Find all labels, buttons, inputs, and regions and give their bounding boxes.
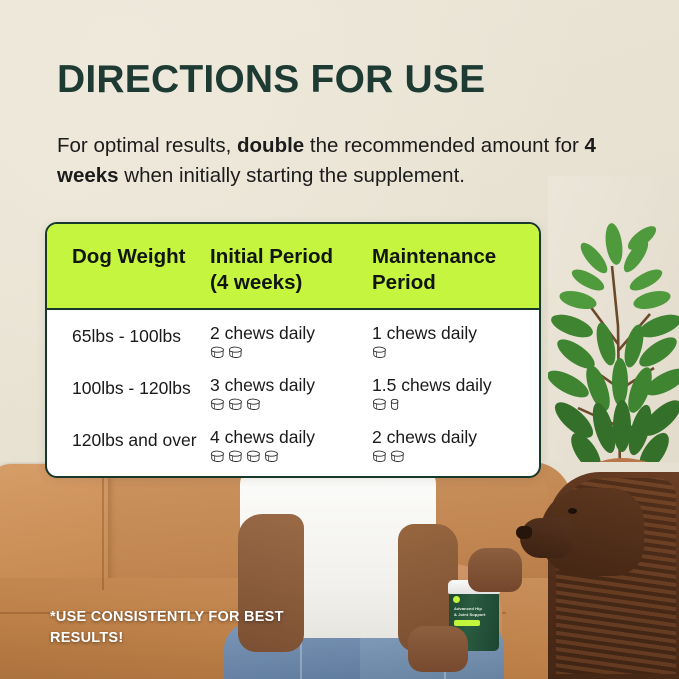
initial-chew-icons: [210, 346, 372, 360]
initial-dose-label: 3 chews daily: [210, 374, 372, 396]
cell-dog-weight: 65lbs - 100lbs: [47, 322, 210, 347]
page-title: DIRECTIONS FOR USE: [57, 58, 485, 102]
maintenance-dose-label: 1 chews daily: [372, 322, 532, 344]
cell-dog-weight: 120lbs and over: [47, 426, 210, 451]
dog-nose-icon: [516, 526, 532, 539]
subtitle-text-1: For optimal results,: [57, 134, 237, 157]
table-header-row: Dog Weight Initial Period (4 weeks) Main…: [47, 224, 539, 310]
dosage-table-card: Dog Weight Initial Period (4 weeks) Main…: [45, 222, 541, 478]
chew-icon: [246, 450, 261, 464]
maintenance-dose-label: 2 chews daily: [372, 426, 532, 448]
jar-label-line2: & Joint Support: [454, 612, 486, 617]
jar-label-line1: Advanced Hip: [454, 606, 482, 611]
maintenance-period-line2: Period: [372, 270, 532, 296]
chew-icon: [246, 398, 261, 412]
subtitle-bold-double: double: [237, 134, 304, 157]
chew-icon: [372, 398, 387, 412]
chew-icon: [264, 450, 279, 464]
initial-chew-icons: [210, 450, 372, 464]
couch-back-cushion: [0, 464, 108, 592]
plant-foliage-icon: [548, 176, 679, 476]
initial-dose-label: 2 chews daily: [210, 322, 372, 344]
maintenance-chew-icons: [372, 450, 532, 464]
maintenance-period-line1: Maintenance: [372, 244, 532, 270]
cell-dog-weight: 100lbs - 120lbs: [47, 374, 210, 399]
couch-seam: [102, 472, 104, 590]
chew-icon: [390, 450, 405, 464]
initial-chew-icons: [210, 398, 372, 412]
maintenance-chew-icons: [372, 346, 532, 360]
chew-icon: [210, 450, 225, 464]
cell-maintenance-period: 1.5 chews daily: [372, 374, 532, 412]
cell-initial-period: 4 chews daily: [210, 426, 372, 464]
table-body: 65lbs - 100lbs2 chews daily1 chews daily…: [47, 310, 539, 478]
person-hand-offering-treat: [468, 548, 522, 592]
initial-dose-label: 4 chews daily: [210, 426, 372, 448]
chew-icon: [228, 346, 243, 360]
initial-period-line1: Initial Period: [210, 244, 372, 270]
maintenance-dose-label: 1.5 chews daily: [372, 374, 532, 396]
chew-icon: [210, 346, 225, 360]
dog-eye-icon: [568, 508, 577, 514]
cell-initial-period: 2 chews daily: [210, 322, 372, 360]
cell-initial-period: 3 chews daily: [210, 374, 372, 412]
houseplant-image: [548, 176, 679, 476]
chew-icon: [372, 346, 387, 360]
chew-icon: [228, 398, 243, 412]
instructions-paragraph: For optimal results, double the recommen…: [57, 131, 632, 191]
chew-icon: [210, 398, 225, 412]
person-hand-holding-jar: [408, 626, 468, 672]
chew-icon: [372, 450, 387, 464]
subtitle-text-2: the recommended amount for: [304, 134, 584, 157]
subtitle-text-3: when initially starting the supplement.: [119, 164, 465, 187]
half-chew-icon: [390, 398, 399, 412]
disclaimer-text: *USE CONSISTENTLY FOR BEST RESULTS!: [50, 607, 290, 649]
initial-period-line2: (4 weeks): [210, 270, 372, 296]
column-header-initial-period: Initial Period (4 weeks): [210, 244, 372, 296]
column-header-dog-weight: Dog Weight: [47, 244, 210, 270]
cell-maintenance-period: 1 chews daily: [372, 322, 532, 360]
table-row: 65lbs - 100lbs2 chews daily1 chews daily: [47, 322, 539, 374]
brand-logo-icon: [453, 596, 460, 603]
maintenance-chew-icons: [372, 398, 532, 412]
cell-maintenance-period: 2 chews daily: [372, 426, 532, 464]
table-row: 100lbs - 120lbs3 chews daily1.5 chews da…: [47, 374, 539, 426]
column-header-maintenance-period: Maintenance Period: [372, 244, 532, 296]
chew-icon: [228, 450, 243, 464]
jar-label-badge: [454, 620, 480, 626]
table-row: 120lbs and over4 chews daily2 chews dail…: [47, 426, 539, 478]
